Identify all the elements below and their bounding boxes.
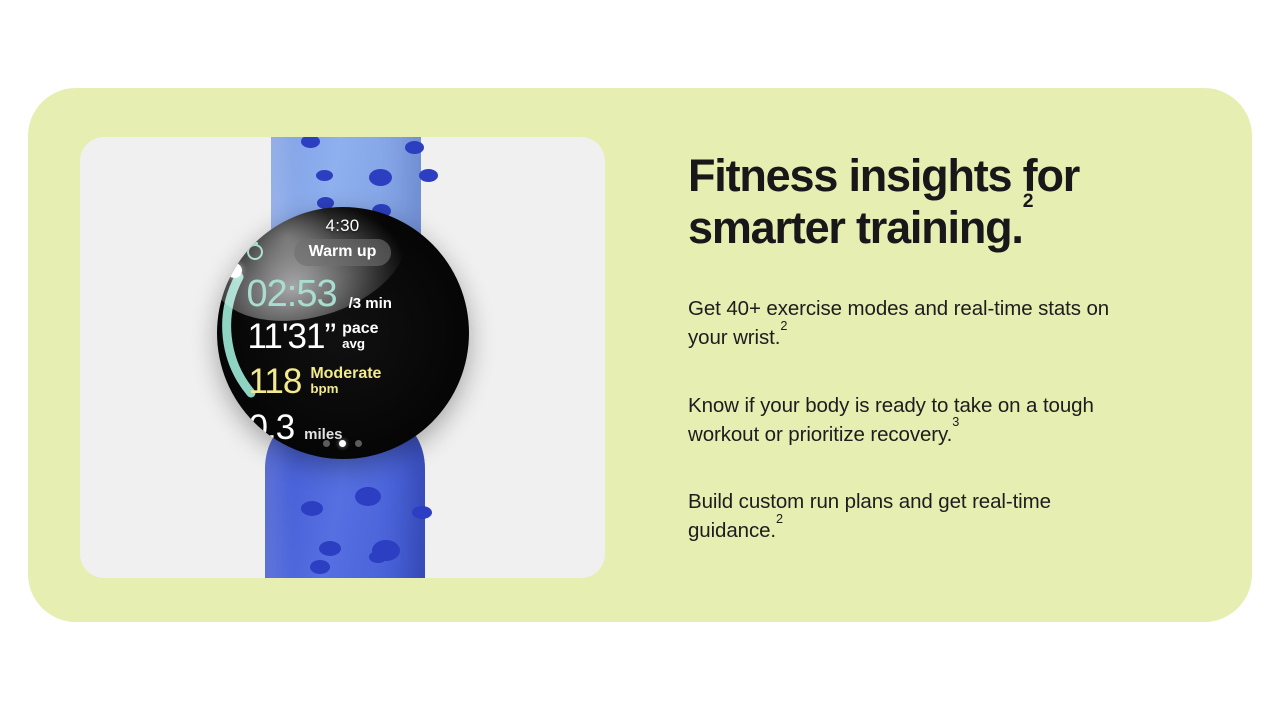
footnote-marker: 2 (776, 511, 783, 526)
footnote-marker: 3 (952, 414, 959, 429)
page-dot[interactable] (323, 440, 330, 447)
list-item: Build custom run plans and get real-time… (688, 449, 1118, 545)
metric-label: pace avg (342, 321, 378, 352)
metric-elapsed-time: 02:53 /3 min (247, 275, 392, 313)
paragraph-text: Get 40+ exercise modes and real-time sta… (688, 297, 1109, 349)
page-title: Fitness insights for smarter training.2 (688, 150, 1158, 254)
metric-label: /3 min (349, 296, 392, 312)
promo-card: 4:30 Warm up 02:53 /3 min 11'31” pace av… (28, 88, 1252, 622)
watch-body: 4:30 Warm up 02:53 /3 min 11'31” pace av… (217, 207, 469, 459)
paragraph-text: Build custom run plans and get real-time… (688, 490, 1051, 542)
metric-pace: 11'31” pace avg (248, 319, 379, 354)
page-indicator-dots[interactable] (217, 440, 469, 447)
paragraph-text: Know if your body is ready to take on a … (688, 394, 1094, 446)
page-dot-active[interactable] (339, 440, 346, 447)
metric-label-sub: avg (342, 337, 378, 351)
headline-block: Fitness insights for smarter training.2 (688, 150, 1158, 256)
product-image-panel: 4:30 Warm up 02:53 /3 min 11'31” pace av… (80, 137, 605, 578)
metric-label-main: Moderate (310, 365, 381, 382)
page-dot[interactable] (355, 440, 362, 447)
metric-label-main: pace (342, 320, 378, 337)
headline-footnote-marker: 2 (1023, 190, 1034, 212)
metric-label: Moderate bpm (310, 366, 381, 397)
feature-list: Get 40+ exercise modes and real-time sta… (688, 256, 1158, 545)
list-item: Get 40+ exercise modes and real-time sta… (688, 256, 1118, 352)
headline-text: Fitness insights for smarter training. (688, 150, 1079, 253)
metric-heart-rate: 118 Moderate bpm (249, 364, 382, 399)
watch-clock-time: 4:30 (217, 216, 469, 236)
metric-value: 02:53 (247, 275, 337, 313)
promo-banner: 4:30 Warm up 02:53 /3 min 11'31” pace av… (0, 0, 1280, 720)
workout-status-pill[interactable]: Warm up (294, 239, 392, 266)
metric-value: 11'31” (248, 319, 336, 354)
pixel-watch-product-image: 4:30 Warm up 02:53 /3 min 11'31” pace av… (183, 137, 503, 578)
footnote-marker: 2 (780, 318, 787, 333)
metric-label-sub: bpm (310, 382, 381, 396)
watch-face: 4:30 Warm up 02:53 /3 min 11'31” pace av… (217, 207, 469, 459)
list-item: Know if your body is ready to take on a … (688, 353, 1118, 449)
metric-value: 118 (249, 364, 302, 399)
promo-copy: Fitness insights for smarter training.2 … (688, 150, 1158, 545)
